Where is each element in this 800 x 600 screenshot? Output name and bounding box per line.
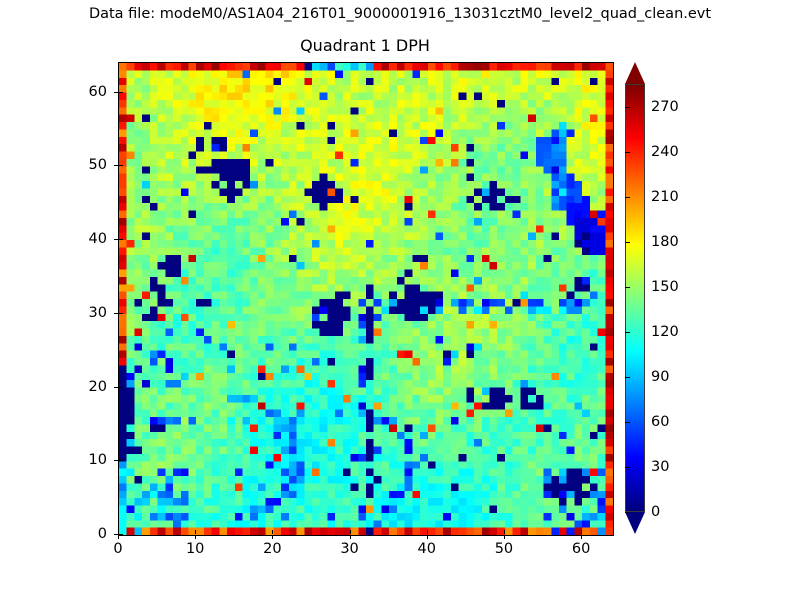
colorbar-tick-label: 90 xyxy=(651,369,669,385)
y-tick-label: 50 xyxy=(89,157,107,173)
x-tick-mark-inner xyxy=(350,530,351,534)
y-tick-label: 20 xyxy=(89,379,107,395)
colorbar-tick-mark xyxy=(625,287,630,288)
colorbar-extend-low-arrow xyxy=(625,512,645,534)
y-tick-mark-inner xyxy=(119,92,123,93)
y-tick-mark-inner xyxy=(119,165,123,166)
x-tick-label: 0 xyxy=(113,541,122,557)
colorbar-tick-label: 180 xyxy=(651,234,679,250)
colorbar-tick-label: 210 xyxy=(651,189,679,205)
colorbar-tick-label: 0 xyxy=(651,504,660,520)
y-tick-label: 40 xyxy=(89,231,107,247)
x-tick-mark xyxy=(272,535,273,539)
x-tick-mark xyxy=(581,535,582,539)
colorbar-tick-mark xyxy=(625,467,630,468)
x-tick-mark-inner xyxy=(272,530,273,534)
y-tick-mark xyxy=(114,165,118,166)
y-tick-mark xyxy=(114,534,118,535)
colorbar-tick-mark xyxy=(625,242,630,243)
y-tick-label: 30 xyxy=(89,305,107,321)
y-tick-mark-inner xyxy=(119,534,123,535)
colorbar-tick-mark xyxy=(625,512,630,513)
y-tick-mark xyxy=(114,460,118,461)
heatmap-image xyxy=(119,63,613,535)
colorbar-tick-label: 30 xyxy=(651,459,669,475)
dph-heatmap[interactable] xyxy=(118,62,614,536)
y-tick-mark-inner xyxy=(119,460,123,461)
x-tick-label: 10 xyxy=(186,541,204,557)
x-tick-mark xyxy=(427,535,428,539)
x-tick-label: 50 xyxy=(495,541,513,557)
x-tick-mark-inner xyxy=(581,530,582,534)
colorbar-tick-label: 240 xyxy=(651,144,679,160)
colorbar-tick-label: 270 xyxy=(651,99,679,115)
x-tick-mark-inner xyxy=(195,530,196,534)
y-tick-mark xyxy=(114,387,118,388)
colorbar[interactable] xyxy=(625,62,645,534)
x-tick-mark-inner xyxy=(427,530,428,534)
x-tick-mark xyxy=(118,535,119,539)
colorbar-tick-mark xyxy=(625,107,630,108)
x-tick-mark-inner xyxy=(504,530,505,534)
y-tick-mark xyxy=(114,313,118,314)
colorbar-tick-label: 120 xyxy=(651,324,679,340)
colorbar-tick-label: 60 xyxy=(651,414,669,430)
x-tick-mark xyxy=(195,535,196,539)
y-tick-mark xyxy=(114,92,118,93)
colorbar-tick-mark xyxy=(625,152,630,153)
x-tick-mark xyxy=(350,535,351,539)
colorbar-extend-high-arrow xyxy=(625,62,645,84)
y-tick-label: 60 xyxy=(89,84,107,100)
x-tick-label: 40 xyxy=(418,541,436,557)
colorbar-tick-mark xyxy=(625,377,630,378)
y-tick-mark-inner xyxy=(119,387,123,388)
y-tick-mark xyxy=(114,239,118,240)
colorbar-tick-mark xyxy=(625,422,630,423)
colorbar-tick-label: 150 xyxy=(651,279,679,295)
y-tick-label: 0 xyxy=(98,526,107,542)
colorbar-tick-mark xyxy=(625,197,630,198)
y-tick-mark-inner xyxy=(119,313,123,314)
colorbar-gradient xyxy=(625,84,645,512)
figure-canvas: Data file: modeM0/AS1A04_216T01_90000019… xyxy=(0,0,800,600)
y-tick-mark-inner xyxy=(119,239,123,240)
x-tick-mark xyxy=(504,535,505,539)
x-tick-label: 20 xyxy=(263,541,281,557)
data-file-label: Data file: modeM0/AS1A04_216T01_90000019… xyxy=(0,6,800,22)
plot-title: Quadrant 1 DPH xyxy=(118,36,612,55)
colorbar-tick-mark xyxy=(625,332,630,333)
x-tick-label: 30 xyxy=(340,541,358,557)
y-tick-label: 10 xyxy=(89,452,107,468)
x-tick-label: 60 xyxy=(572,541,590,557)
